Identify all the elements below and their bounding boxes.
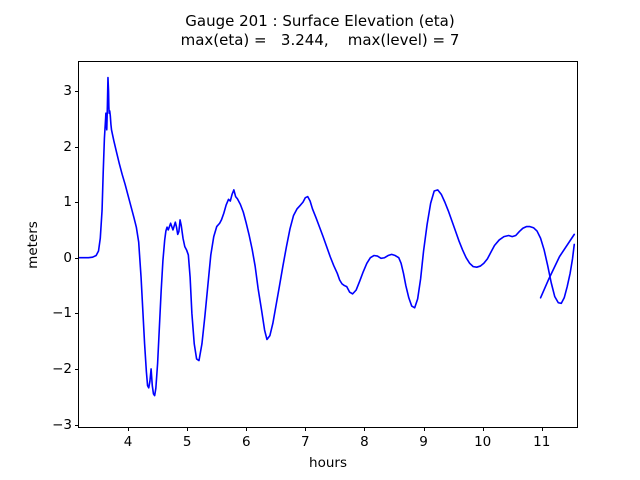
- x-tick-mark: [187, 427, 188, 431]
- x-tick-mark: [483, 427, 484, 431]
- x-tick-label: 7: [301, 434, 310, 450]
- y-tick-mark: [75, 202, 79, 203]
- y-tick-label: 3: [63, 83, 72, 99]
- plot-series-area: [79, 62, 579, 429]
- x-tick-mark: [364, 427, 365, 431]
- x-tick-label: 11: [533, 434, 550, 450]
- y-tick-mark: [75, 313, 79, 314]
- chart-title-line-1: Gauge 201 : Surface Elevation (eta): [0, 12, 640, 31]
- series-line-eta-return: [541, 234, 575, 297]
- y-tick-mark: [75, 425, 79, 426]
- x-tick-label: 10: [474, 434, 491, 450]
- x-tick-mark: [424, 427, 425, 431]
- series-line-eta: [79, 78, 574, 396]
- y-tick-mark: [75, 91, 79, 92]
- x-tick-mark: [542, 427, 543, 431]
- x-tick-mark: [128, 427, 129, 431]
- y-tick-label: −2: [52, 361, 72, 377]
- x-tick-label: 8: [360, 434, 369, 450]
- y-tick-label: 1: [63, 194, 72, 210]
- x-tick-mark: [246, 427, 247, 431]
- x-axis-label: hours: [78, 455, 578, 471]
- x-tick-mark: [305, 427, 306, 431]
- y-tick-label: 2: [63, 139, 72, 155]
- y-axis-label: meters: [24, 61, 42, 428]
- chart-title: Gauge 201 : Surface Elevation (eta) max(…: [0, 12, 640, 50]
- x-tick-label: 6: [242, 434, 251, 450]
- y-tick-label: 0: [63, 250, 72, 266]
- y-tick-label: −1: [52, 305, 72, 321]
- x-tick-label: 5: [183, 434, 192, 450]
- y-tick-label: −3: [52, 417, 72, 433]
- figure-canvas: Gauge 201 : Surface Elevation (eta) max(…: [0, 0, 640, 480]
- y-tick-mark: [75, 369, 79, 370]
- chart-title-line-2: max(eta) = 3.244, max(level) = 7: [0, 31, 640, 50]
- x-axis-label-text: hours: [309, 455, 347, 471]
- y-axis-label-text: meters: [25, 221, 41, 269]
- x-tick-label: 4: [124, 434, 133, 450]
- y-tick-mark: [75, 147, 79, 148]
- x-tick-label: 9: [419, 434, 428, 450]
- plot-axes: −3−2−101234567891011: [78, 61, 578, 428]
- y-tick-mark: [75, 258, 79, 259]
